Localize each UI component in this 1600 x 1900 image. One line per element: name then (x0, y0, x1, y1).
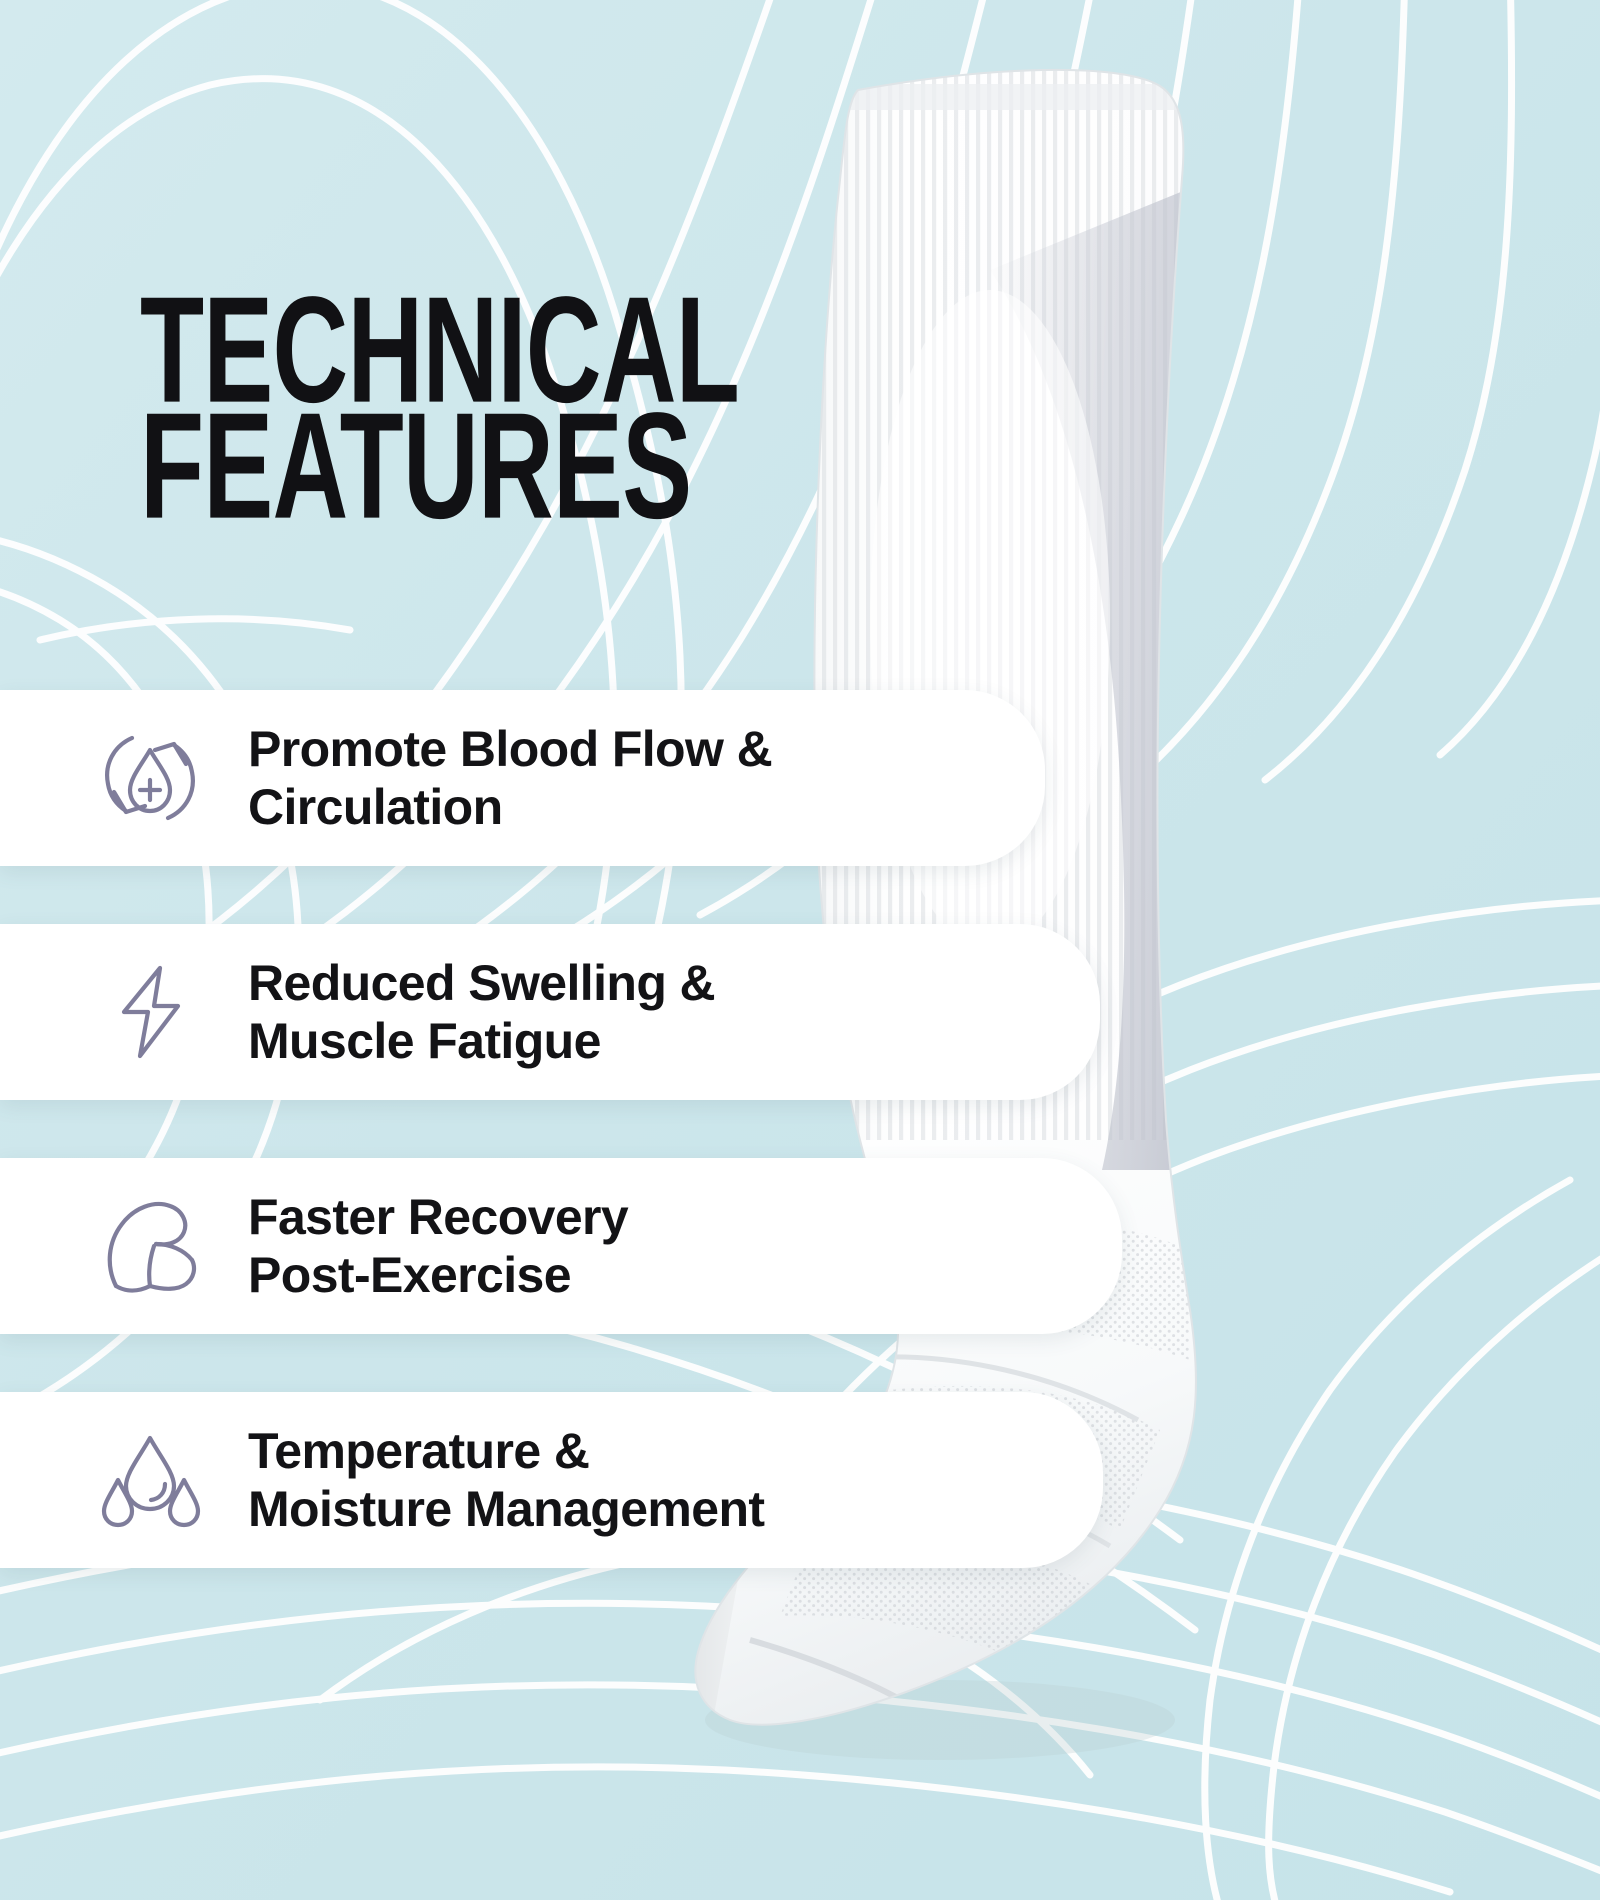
feature-card-reduced-swelling[interactable]: Reduced Swelling & Muscle Fatigue (0, 924, 1100, 1100)
feature-label-faster-recovery: Faster Recovery Post-Exercise (248, 1188, 628, 1304)
feature-card-faster-recovery[interactable]: Faster Recovery Post-Exercise (0, 1158, 1122, 1334)
feature-label-reduced-swelling: Reduced Swelling & Muscle Fatigue (248, 954, 715, 1070)
page-title: TECHNICAL FEATURES (140, 286, 860, 512)
feature-list: Promote Blood Flow & Circulation Reduced… (0, 690, 1100, 1626)
feature-label-moisture-management: Temperature & Moisture Management (248, 1422, 764, 1538)
feature-card-moisture-management[interactable]: Temperature & Moisture Management (0, 1392, 1103, 1568)
feature-label-line-1: Reduced Swelling & (248, 955, 715, 1011)
water-droplets-icon (98, 1428, 202, 1532)
feature-label-line-1: Faster Recovery (248, 1189, 628, 1245)
feature-label-line-1: Temperature & (248, 1423, 589, 1479)
feature-label-line-2: Circulation (248, 779, 503, 835)
feature-label-line-2: Muscle Fatigue (248, 1013, 601, 1069)
feature-label-line-1: Promote Blood Flow & (248, 721, 772, 777)
lightning-bolt-icon (98, 960, 202, 1064)
circulation-droplet-icon (98, 726, 202, 830)
flexed-bicep-icon (98, 1194, 202, 1298)
feature-label-line-2: Moisture Management (248, 1481, 764, 1537)
page-title-line-2: FEATURES (140, 402, 730, 532)
feature-label-blood-flow: Promote Blood Flow & Circulation (248, 720, 772, 836)
feature-label-line-2: Post-Exercise (248, 1247, 571, 1303)
poster-canvas: TECHNICAL FEATURES Promote Blood Flow & … (0, 0, 1600, 1900)
feature-card-blood-flow[interactable]: Promote Blood Flow & Circulation (0, 690, 1045, 866)
